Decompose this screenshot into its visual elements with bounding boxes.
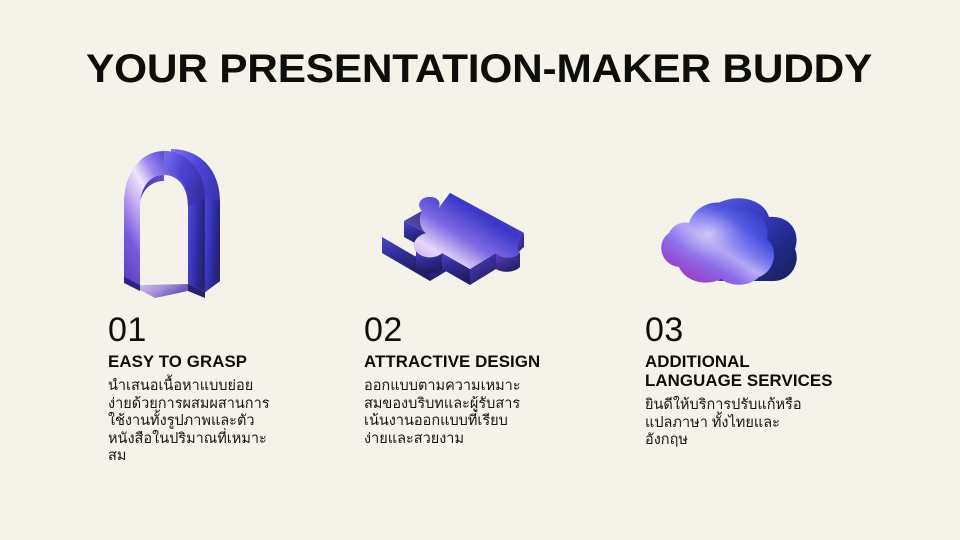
feature-column-1: 01 EASY TO GRASP นำเสนอเนื้อหาแบบย่อย ง่… <box>108 130 308 466</box>
arch-icon <box>108 135 238 305</box>
column-heading: EASY TO GRASP <box>108 353 312 372</box>
cloud-icon <box>645 187 805 305</box>
feature-column-2: 02 ATTRACTIVE DESIGN ออกแบบตามความเหมาะ … <box>364 130 589 448</box>
column-body-text: นำเสนอเนื้อหาแบบย่อย ง่ายด้วยการผสมผสานก… <box>108 378 308 466</box>
feature-column-3: 03 ADDITIONAL LANGUAGE SERVICES ยินดีให้… <box>645 130 885 450</box>
column-body-text: ออกแบบตามความเหมาะ สมของบริบทและผู้รับสา… <box>364 378 589 448</box>
column-heading: ADDITIONAL LANGUAGE SERVICES <box>645 353 890 391</box>
column-number: 01 <box>108 311 308 349</box>
page-title: YOUR PRESENTATION-MAKER BUDDY <box>86 46 955 92</box>
icon-well-2 <box>364 130 589 305</box>
feature-columns: 01 EASY TO GRASP นำเสนอเนื้อหาแบบย่อย ง่… <box>0 130 960 530</box>
slide-canvas: YOUR PRESENTATION-MAKER BUDDY <box>0 0 960 540</box>
icon-well-1 <box>108 130 308 305</box>
column-number: 02 <box>364 311 589 349</box>
puzzle-piece-icon <box>364 185 544 305</box>
column-heading: ATTRACTIVE DESIGN <box>364 353 594 372</box>
icon-well-3 <box>645 130 885 305</box>
column-number: 03 <box>645 311 885 349</box>
column-body-text: ยินดีให้บริการปรับแก้หรือ แปลภาษา ทั้งไท… <box>645 397 885 450</box>
